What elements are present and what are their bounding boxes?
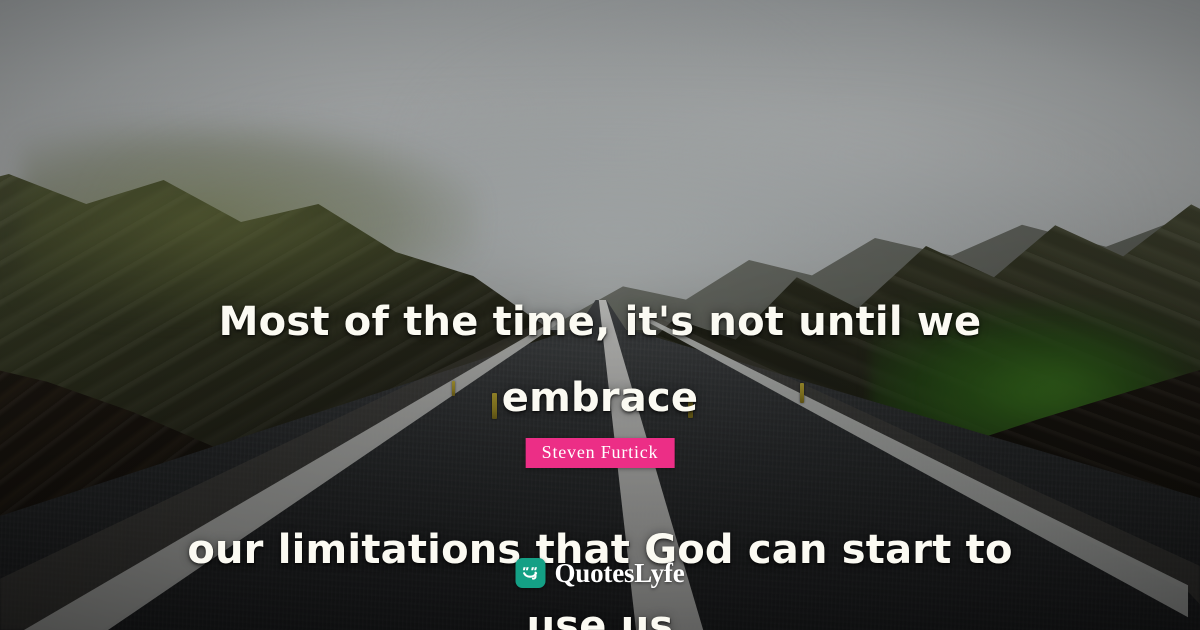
quote-card: Most of the time, it's not until we embr… bbox=[0, 0, 1200, 630]
brand-wordmark: QuotesLyfe bbox=[555, 558, 685, 588]
quote-smiley-icon bbox=[516, 558, 546, 588]
quote-line-1: Most of the time, it's not until we embr… bbox=[150, 284, 1050, 436]
brand-logo[interactable]: QuotesLyfe bbox=[516, 558, 685, 588]
card-content: Most of the time, it's not until we embr… bbox=[0, 0, 1200, 630]
author-badge[interactable]: Steven Furtick bbox=[526, 438, 675, 468]
